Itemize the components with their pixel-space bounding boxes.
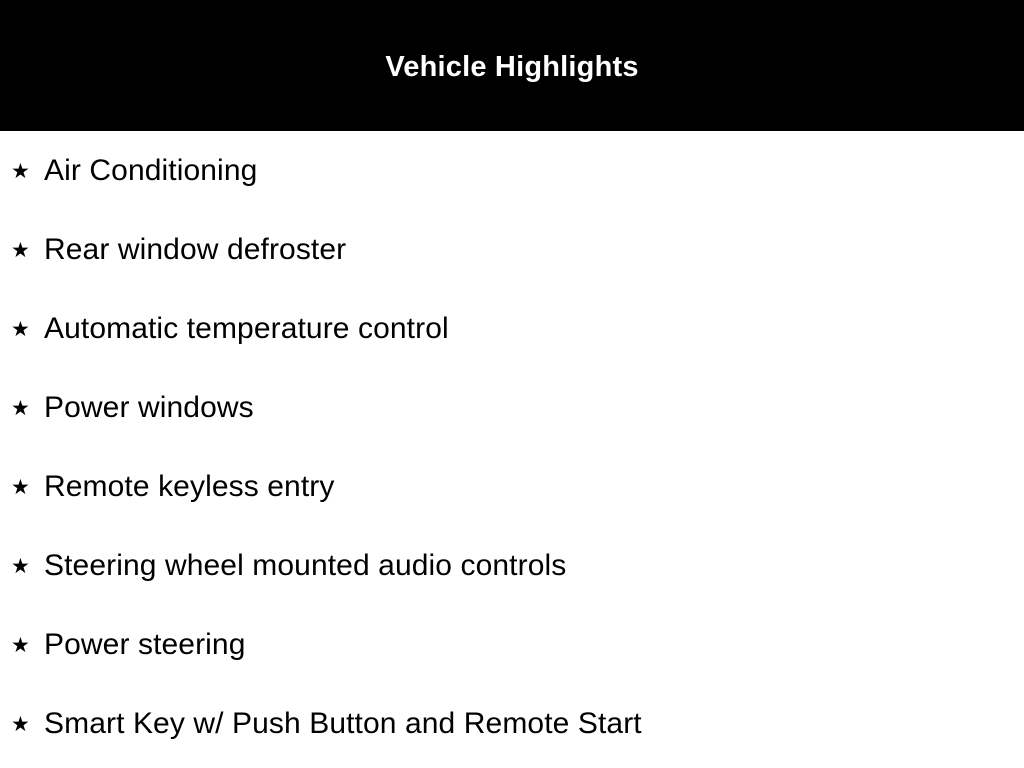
page-title: Vehicle Highlights — [0, 0, 1024, 131]
highlight-label: Remote keyless entry — [44, 471, 334, 503]
highlight-label: Air Conditioning — [44, 155, 257, 187]
list-item: ★ Automatic temperature control — [0, 309, 1024, 349]
star-bullet-icon: ★ — [11, 161, 44, 182]
highlight-label: Power windows — [44, 392, 254, 424]
star-bullet-icon: ★ — [11, 477, 44, 498]
list-item: ★ Power steering — [0, 625, 1024, 665]
star-bullet-icon: ★ — [11, 714, 44, 735]
highlight-label: Automatic temperature control — [44, 313, 449, 345]
list-item: ★ Smart Key w/ Push Button and Remote St… — [0, 704, 1024, 744]
star-bullet-icon: ★ — [11, 240, 44, 261]
vehicle-highlights-page: Vehicle Highlights ★ Air Conditioning ★ … — [0, 0, 1024, 768]
highlight-label: Steering wheel mounted audio controls — [44, 550, 566, 582]
list-item: ★ Rear window defroster — [0, 230, 1024, 270]
list-item: ★ Power windows — [0, 388, 1024, 428]
header-band: Vehicle Highlights — [0, 0, 1024, 131]
list-item: ★ Air Conditioning — [0, 151, 1024, 191]
star-bullet-icon: ★ — [11, 398, 44, 419]
list-item: ★ Remote keyless entry — [0, 467, 1024, 507]
highlight-label: Power steering — [44, 629, 246, 661]
star-bullet-icon: ★ — [11, 635, 44, 656]
star-bullet-icon: ★ — [11, 556, 44, 577]
highlight-label: Smart Key w/ Push Button and Remote Star… — [44, 708, 642, 740]
vehicle-highlights-list: ★ Air Conditioning ★ Rear window defrost… — [0, 131, 1024, 768]
highlight-label: Rear window defroster — [44, 234, 346, 266]
star-bullet-icon: ★ — [11, 319, 44, 340]
list-item: ★ Steering wheel mounted audio controls — [0, 546, 1024, 586]
